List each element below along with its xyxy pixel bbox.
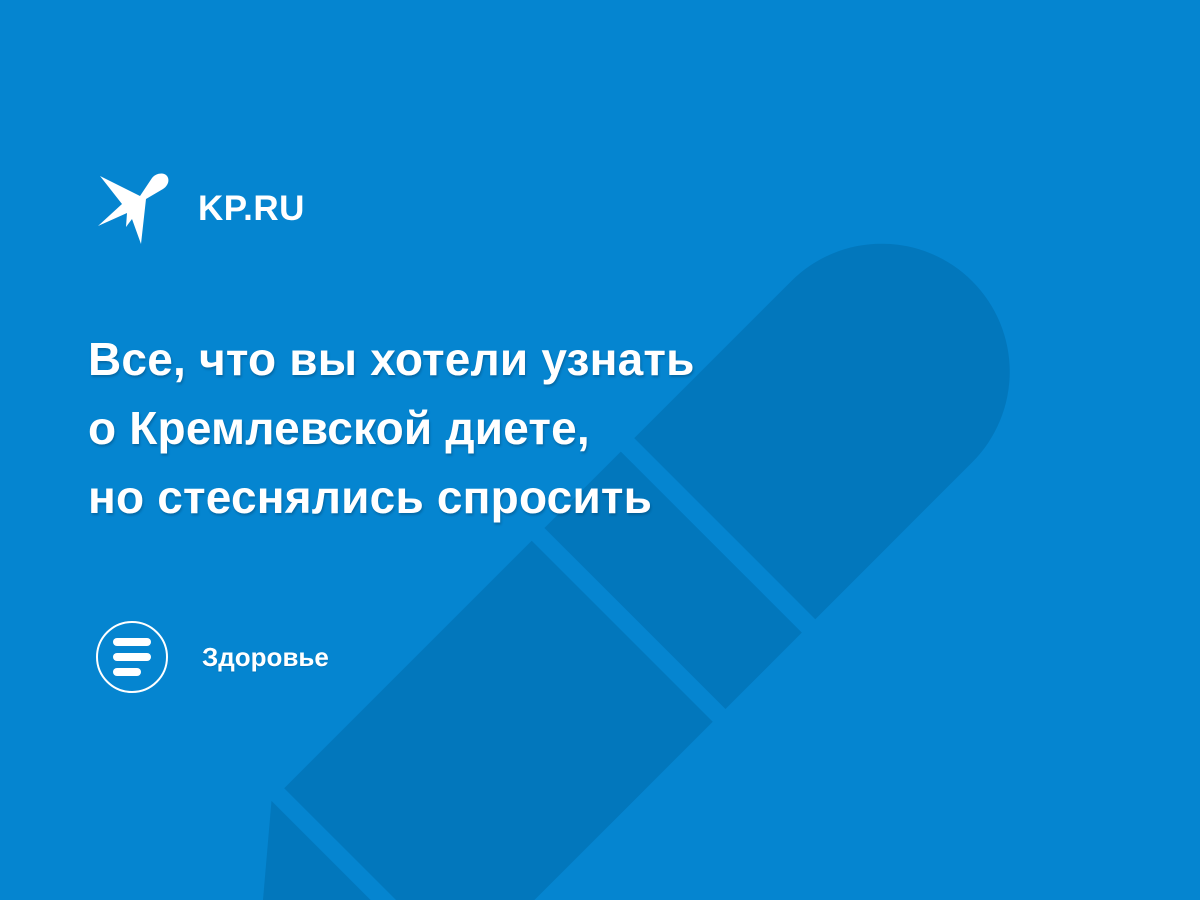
swallow-bird-icon — [96, 172, 172, 244]
headline-line-2: о Кремлевской диете, — [88, 394, 888, 463]
list-line-1 — [113, 638, 151, 646]
category-badge[interactable]: Здоровье — [96, 619, 329, 695]
brand-wordmark: KP.RU — [198, 191, 305, 226]
brand-logo[interactable]: KP.RU — [96, 172, 305, 244]
page-title: Все, что вы хотели узнать о Кремлевской … — [88, 325, 888, 532]
headline-line-1: Все, что вы хотели узнать — [88, 325, 888, 394]
list-line-3 — [113, 668, 141, 676]
category-label: Здоровье — [202, 644, 329, 670]
headline-line-3: но стеснялись спросить — [88, 463, 888, 532]
list-lines-icon — [96, 621, 168, 693]
list-line-2 — [113, 653, 151, 661]
share-card: KP.RU Все, что вы хотели узнать о Кремле… — [0, 0, 1200, 900]
